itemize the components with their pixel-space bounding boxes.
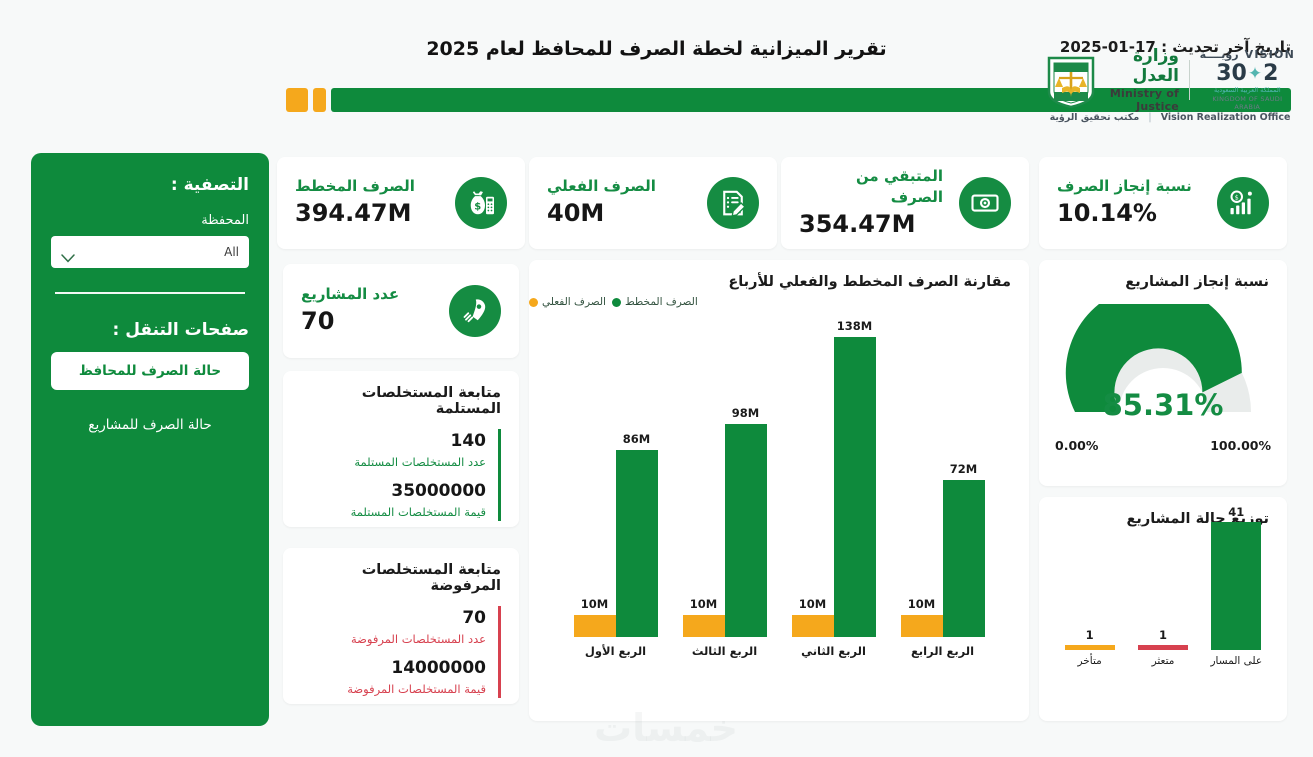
quarter-label: الربع الثالث: [692, 644, 757, 658]
kpi-card-remaining-spend: المتبقي من الصرف 354.47M: [781, 157, 1029, 249]
dashboard-root: تاريخ آخر تحديث : 17-01-2025 تقرير الميز…: [0, 0, 1313, 757]
received-claims-title: متابعة المستخلصات المستلمة: [283, 371, 519, 417]
nav-button-governorate-spend-status[interactable]: حالة الصرف للمحافظ: [51, 352, 249, 390]
quarter-label: الربع الثاني: [801, 644, 866, 658]
cash-icon: [959, 177, 1011, 229]
gauge-max-label: 100.00%: [1210, 438, 1271, 453]
kpi-label: الصرف المخطط: [295, 176, 415, 197]
logo-divider: [1189, 60, 1190, 100]
gauge-title: نسبة إنجاز المشاريع: [1039, 260, 1287, 290]
quarter-bar-value: 72M: [950, 462, 977, 476]
rejected-claims-count-value: 70: [301, 606, 486, 631]
vro-divider: |: [1148, 112, 1151, 123]
quarter-label: الربع الأول: [585, 644, 646, 658]
quarter-bar: [616, 450, 658, 637]
vision-num-right: 30: [1216, 61, 1247, 86]
kpi-value: 354.47M: [799, 208, 916, 240]
money-bag-icon: $: [455, 177, 507, 229]
watermark: خمسات: [556, 706, 776, 754]
sidebar-divider: [55, 292, 245, 294]
portfolio-select-value: All: [224, 245, 239, 259]
header-bar-orange-large: [286, 88, 308, 112]
status-bar-label: متأخر: [1078, 655, 1102, 667]
rejected-claims-card: متابعة المستخلصات المرفوضة 70 عدد المستخ…: [283, 548, 519, 704]
svg-text:$: $: [1235, 194, 1239, 201]
received-claims-count-value: 140: [301, 429, 486, 454]
nav-heading: صفحات التنقل :: [51, 320, 249, 340]
status-bar-value: 1: [1159, 628, 1167, 642]
spend-progress-icon: $: [1217, 177, 1269, 229]
received-claims-amount-label: قيمة المستخلصات المستلمة: [301, 504, 486, 521]
quarter-label: الربع الرابع: [911, 644, 974, 658]
legend-color-swatch: [612, 298, 621, 307]
status-bar-label: متعثر: [1152, 655, 1175, 667]
status-distribution-card: توزيع حالة المشاريع 1متأخر1متعثر41على ال…: [1039, 497, 1287, 721]
kpi-value: 394.47M: [295, 197, 412, 229]
status-bar-chart: 1متأخر1متعثر41على المسار: [1053, 537, 1273, 695]
legend-color-swatch: [529, 298, 538, 307]
quarter-bar-column: 10M: [683, 307, 725, 637]
status-bar-group: 41على المسار: [1206, 505, 1266, 667]
quarter-bar-value: 10M: [908, 597, 935, 611]
status-bar-value: 41: [1228, 505, 1244, 519]
received-claims-amount-value: 35000000: [301, 479, 486, 504]
gauge-value-label: 85.31%: [1039, 388, 1287, 422]
kpi-label: نسبة إنجاز الصرف: [1057, 176, 1192, 197]
document-edit-icon: [707, 177, 759, 229]
kpi-value: 70: [301, 305, 334, 337]
kpi-label: الصرف الفعلي: [547, 176, 656, 197]
moj-arabic-name: وزارة العدل: [1107, 47, 1179, 86]
received-claims-card: متابعة المستخلصات المستلمة 140 عدد المست…: [283, 371, 519, 527]
quarter-bar-group: 10M86Mالربع الأول: [561, 307, 670, 658]
kpi-card-spend-completion-rate: $ نسبة إنجاز الصرف 10.14%: [1039, 157, 1287, 249]
status-bar-group: 1متأخر: [1060, 628, 1120, 667]
quarter-bar: [943, 480, 985, 637]
quarter-bar-value: 86M: [623, 432, 650, 446]
status-bar-group: 1متعثر: [1133, 628, 1193, 667]
quarter-bar-value: 10M: [799, 597, 826, 611]
vro-english: Vision Realization Office: [1161, 112, 1291, 123]
nav-button-project-spend-status[interactable]: حالة الصرف للمشاريع: [51, 406, 249, 444]
header-bar-orange-small: [313, 88, 326, 112]
vision-2030-logo: VISION رؤيــــة 2 ✦ 30 المملكة العربية ا…: [1200, 48, 1295, 111]
vision-sub-english: KINGDOM OF SAUDI ARABIA: [1212, 95, 1282, 111]
quarter-chart-legend: الصرف المخططالصرف الفعلي: [529, 290, 1029, 308]
quarter-chart-title: مقارنة الصرف المخطط والفعلي للأرباع: [529, 260, 1029, 290]
vro-arabic: مكتب تحقيق الرؤية: [1050, 112, 1140, 123]
quarter-bar: [834, 337, 876, 637]
quarter-bar-column: 86M: [616, 307, 658, 637]
status-bar: [1138, 645, 1188, 650]
status-bar-value: 1: [1086, 628, 1094, 642]
quarter-bar-value: 10M: [581, 597, 608, 611]
status-bar: [1211, 522, 1261, 650]
quarter-bar: [683, 615, 725, 637]
rejected-claims-amount-value: 14000000: [301, 656, 486, 681]
quarter-bar-group: 10M138Mالربع الثاني: [779, 307, 888, 658]
brand-logos: وزارة العدل Ministry of Justice VISION ر…: [1045, 52, 1295, 130]
vision-word: VISION: [1245, 48, 1295, 61]
quarter-bar: [725, 424, 767, 637]
kpi-value: 10.14%: [1057, 197, 1157, 229]
quarter-bar: [792, 615, 834, 637]
rejected-claims-count-label: عدد المستخلصات المرفوضة: [301, 631, 486, 648]
quarter-bar-column: 10M: [792, 307, 834, 637]
quarter-bar-group: 10M98Mالربع الثالث: [670, 307, 779, 658]
kpi-card-actual-spend: الصرف الفعلي 40M: [529, 157, 777, 249]
quarter-bar-column: 10M: [901, 307, 943, 637]
rocket-icon: [449, 285, 501, 337]
received-claims-metrics: 140 عدد المستخلصات المستلمة 35000000 قيم…: [301, 429, 501, 521]
vision-starburst-icon: ✦: [1248, 64, 1262, 84]
quarterly-comparison-card: مقارنة الصرف المخطط والفعلي للأرباع الصر…: [529, 260, 1029, 721]
ministry-of-justice-crest-icon: [1045, 52, 1097, 108]
received-claims-count-label: عدد المستخلصات المستلمة: [301, 454, 486, 471]
quarter-bar-column: 10M: [574, 307, 616, 637]
nav-button-label: حالة الصرف للمحافظ: [79, 363, 221, 379]
portfolio-select[interactable]: All: [51, 236, 249, 268]
quarter-bar-group: 10M72Mالربع الرابع: [888, 307, 997, 658]
gauge-min-label: 0.00%: [1055, 438, 1098, 453]
rejected-claims-amount-label: قيمة المستخلصات المرفوضة: [301, 681, 486, 698]
moj-english-name: Ministry of Justice: [1107, 87, 1179, 113]
status-bar: [1065, 645, 1115, 650]
filter-heading: التصفية :: [51, 175, 249, 195]
ministry-of-justice-wordmark: وزارة العدل Ministry of Justice: [1107, 47, 1179, 112]
kpi-card-planned-spend: $ الصرف المخطط 394.47M: [277, 157, 525, 249]
status-bar-label: على المسار: [1210, 655, 1262, 667]
svg-text:$: $: [474, 201, 481, 212]
gauge-card-projects-completion: نسبة إنجاز المشاريع 85.31% 0.00% 100.00%: [1039, 260, 1287, 486]
rejected-claims-metrics: 70 عدد المستخلصات المرفوضة 14000000 قيمة…: [301, 606, 501, 698]
vision-word-arabic: رؤيــــة: [1200, 48, 1239, 61]
quarter-bar-column: 98M: [725, 307, 767, 637]
quarter-bar-chart: 10M86Mالربع الأول10M98Mالربع الثالث10M13…: [551, 308, 1007, 688]
gauge-chart: 85.31% 0.00% 100.00%: [1039, 304, 1287, 454]
quarter-bar-column: 138M: [834, 307, 876, 637]
quarter-bar-value: 138M: [837, 319, 872, 333]
quarter-bar-value: 98M: [732, 406, 759, 420]
nav-button-label: حالة الصرف للمشاريع: [88, 417, 211, 433]
quarter-bar: [901, 615, 943, 637]
kpi-value: 40M: [547, 197, 604, 229]
filter-sidebar: التصفية : المحفظة All صفحات التنقل : حال…: [31, 153, 269, 726]
vision-sub-arabic: المملكة العربية السعودية: [1214, 86, 1281, 94]
vision-num-left: 2: [1263, 61, 1278, 86]
kpi-card-projects-count: عدد المشاريع 70: [283, 264, 519, 358]
portfolio-label: المحفظة: [51, 213, 249, 228]
quarter-bar-column: 72M: [943, 307, 985, 637]
quarter-bar: [574, 615, 616, 637]
kpi-label: المتبقي من الصرف: [799, 166, 943, 208]
rejected-claims-title: متابعة المستخلصات المرفوضة: [283, 548, 519, 594]
kpi-label: عدد المشاريع: [301, 284, 399, 305]
quarter-bar-value: 10M: [690, 597, 717, 611]
chevron-down-icon[interactable]: [61, 248, 75, 257]
